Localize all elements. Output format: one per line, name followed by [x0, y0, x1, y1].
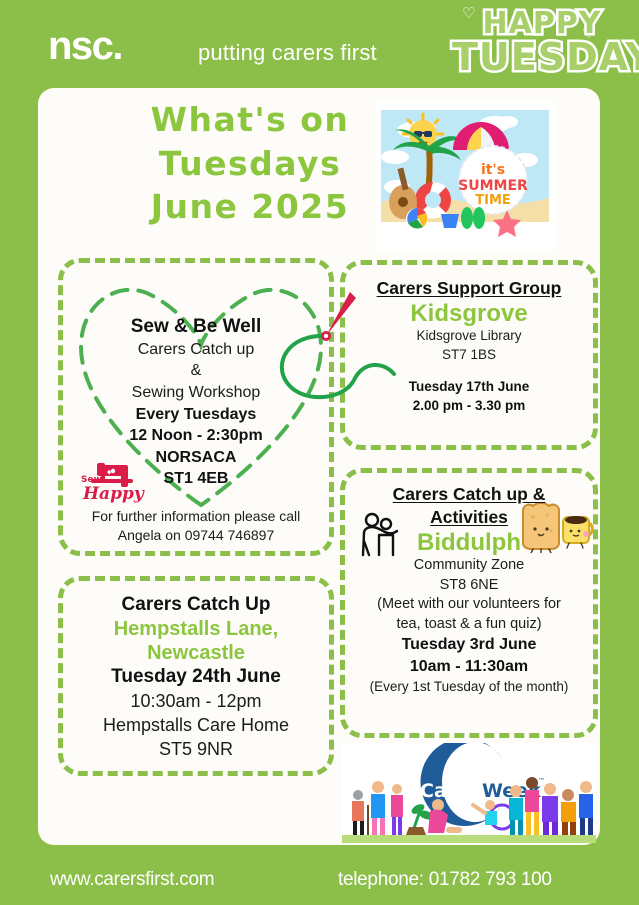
card-carers-catch-up-biddulph: Carers Catch up & Activities Biddulph Co…: [340, 468, 598, 738]
sew-happy-bottom: Happy: [82, 484, 145, 504]
title-line-2: Tuesdays: [100, 142, 400, 186]
content-panel: What's on Tuesdays June 2025: [38, 88, 600, 845]
title-line-3: June 2025: [100, 185, 400, 229]
footer-phone: telephone: 01782 793 100: [338, 869, 552, 891]
sew-contact-line-2: Angela on 09744 746897: [63, 526, 329, 545]
sew-contact-block: For further information please call Ange…: [63, 507, 329, 545]
biddulph-time: 10am - 11:30am: [345, 656, 593, 678]
biddulph-text: Carers Catch up & Activities Biddulph Co…: [345, 473, 593, 696]
kidsgrove-time: 2.00 pm - 3.30 pm: [345, 397, 593, 416]
carers-week-image: Carers Week ™: [342, 743, 596, 843]
card-carers-support-group-kidsgrove: Carers Support Group Kidsgrove Kidsgrove…: [340, 260, 598, 450]
newcastle-heading: Carers Catch Up: [63, 593, 329, 617]
newcastle-place-line-1: Hempstalls Lane,: [63, 617, 329, 641]
carers-week-tm: ™: [538, 777, 545, 785]
newcastle-time: 10:30am - 12pm: [63, 689, 329, 713]
carers-week-illustration: Carers Week ™: [342, 743, 596, 843]
newcastle-text: Carers Catch Up Hempstalls Lane, Newcast…: [63, 581, 329, 761]
biddulph-heading-line-2: Activities: [345, 506, 593, 529]
summer-text-2: SUMMER: [458, 178, 528, 194]
kidsgrove-place: Kidsgrove: [345, 300, 593, 328]
sew-line-3: Sewing Workshop: [63, 382, 329, 404]
page-header: nsc. putting carers first ♡ ♡ HAPPY TUES…: [0, 0, 639, 88]
summer-illustration: it's SUMMER TIME: [375, 102, 555, 250]
kidsgrove-date: Tuesday 17th June: [345, 378, 593, 397]
kidsgrove-heading: Carers Support Group: [345, 277, 593, 300]
newcastle-postcode: ST5 9NR: [63, 737, 329, 761]
footer-website[interactable]: www.carersfirst.com: [50, 869, 214, 891]
biddulph-note-line-1: (Meet with our volunteers for: [345, 595, 593, 615]
page-footer: www.carersfirst.com telephone: 01782 793…: [0, 845, 639, 905]
nsc-logo: nsc.: [48, 26, 122, 66]
biddulph-venue: Community Zone: [345, 556, 593, 576]
sew-line-5: 12 Noon - 2:30pm: [63, 425, 329, 447]
kidsgrove-text: Carers Support Group Kidsgrove Kidsgrove…: [345, 265, 593, 416]
biddulph-heading-line-1: Carers Catch up &: [345, 483, 593, 506]
biddulph-frequency: (Every 1st Tuesday of the month): [345, 678, 593, 696]
sew-heading: Sew & Be Well: [63, 315, 329, 339]
summer-text-1: it's: [481, 162, 505, 178]
carers-week-logo-text: Carers: [420, 780, 490, 802]
sew-line-4: Every Tuesdays: [63, 404, 329, 426]
happy-tuesday-badge: ♡ ♡ HAPPY TUESDAY: [452, 2, 632, 86]
biddulph-note-line-2: tea, toast & a fun quiz): [345, 615, 593, 635]
kidsgrove-postcode: ST7 1BS: [345, 346, 593, 364]
card-sew-and-be-well: Sew & Be Well Carers Catch up & Sewing W…: [58, 258, 334, 556]
badge-line-tuesday: TUESDAY: [452, 35, 632, 79]
summer-text-3: TIME: [475, 193, 511, 208]
biddulph-heading-wrap: Carers Catch up & Activities: [345, 483, 593, 529]
brand-tagline: putting carers first: [198, 42, 377, 64]
card-carers-catch-up-newcastle: Carers Catch Up Hempstalls Lane, Newcast…: [58, 576, 334, 776]
biddulph-postcode: ST8 6NE: [345, 576, 593, 596]
sew-contact-line-1: For further information please call: [63, 507, 329, 526]
newcastle-venue: Hempstalls Care Home: [63, 713, 329, 737]
page-title: What's on Tuesdays June 2025: [100, 98, 400, 229]
summer-time-image: it's SUMMER TIME: [375, 102, 555, 250]
biddulph-date: Tuesday 3rd June: [345, 634, 593, 656]
kidsgrove-venue: Kidsgrove Library: [345, 327, 593, 345]
newcastle-date: Tuesday 24th June: [63, 665, 329, 689]
kidsgrove-spacer: [345, 364, 593, 378]
newcastle-place-line-2: Newcastle: [63, 641, 329, 665]
title-line-1: What's on: [100, 98, 400, 142]
sew-line-1: Carers Catch up: [63, 339, 329, 361]
sew-line-2: &: [63, 360, 329, 382]
sew-happy-logo: Sew Happy: [77, 455, 145, 505]
